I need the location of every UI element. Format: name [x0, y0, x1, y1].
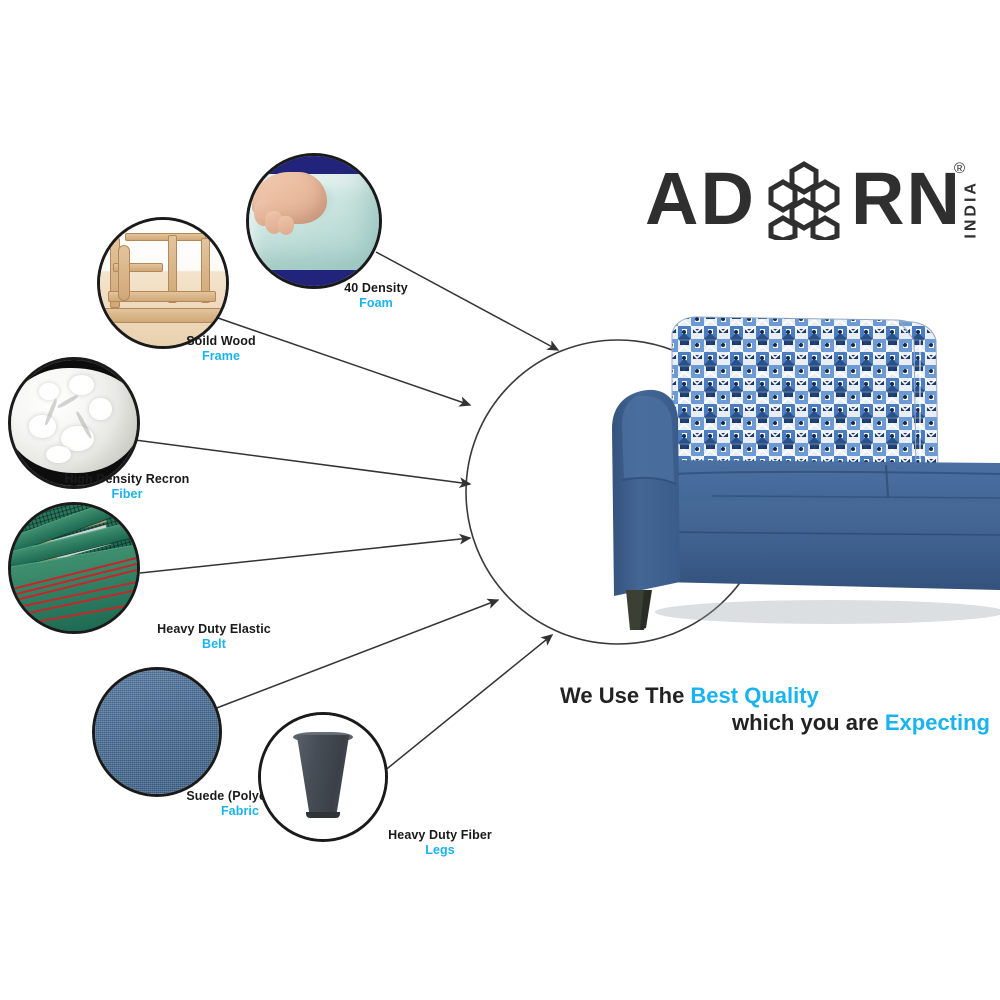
wire-fiber-legs: [383, 635, 552, 772]
infographic-canvas: Soild Wood Frame 40 Density Foam: [0, 0, 1000, 1000]
logo-country-label: INDIA: [963, 180, 981, 239]
elastic-belt-image: [8, 502, 140, 634]
wire-suede-fabric: [214, 600, 498, 709]
suede-fabric-swatch: [95, 670, 219, 794]
caption-subtitle: Legs: [352, 843, 528, 858]
honeycomb-icon: [761, 160, 847, 240]
tagline-line1-plain: We Use The: [560, 683, 690, 708]
fiber-legs-caption: Heavy Duty Fiber Legs: [352, 828, 528, 858]
caption-title: Heavy Duty Elastic: [120, 622, 308, 637]
density-foam-image: [246, 153, 382, 289]
suede-fabric-image: [92, 667, 222, 797]
solid-wood-frame-image: [97, 217, 229, 349]
caption-title: Soild Wood: [128, 334, 314, 349]
tagline-line2-highlight: Expecting: [885, 710, 990, 735]
sofa-arm: [612, 390, 680, 596]
elastic-belt-caption: Heavy Duty Elastic Belt: [120, 622, 308, 652]
caption-subtitle: Foam: [318, 296, 434, 311]
sofa-leg-photo: [261, 715, 385, 839]
sofa-back-cushions: [672, 317, 938, 472]
wood-frame-photo: [100, 220, 226, 346]
caption-subtitle: Fiber: [36, 487, 218, 502]
logo-wordmark-suffix: RN: [851, 162, 962, 236]
recron-fiber-image: [8, 357, 140, 489]
wire-elastic-belt: [140, 538, 470, 573]
sofa-legs: [626, 590, 652, 630]
recron-fiber-caption: High Density Recron Fiber: [36, 472, 218, 502]
recron-fiber-photo: [11, 360, 137, 486]
sofa-shadow: [655, 600, 1000, 624]
caption-title: 40 Density: [318, 281, 434, 296]
density-foam-caption: 40 Density Foam: [318, 281, 434, 311]
registered-trademark-icon: ®: [954, 160, 965, 177]
fiber-legs-image: [258, 712, 388, 842]
tagline-line1-highlight: Best Quality: [690, 683, 818, 708]
blue-fabric-sofa: [600, 300, 1000, 650]
caption-title: High Density Recron: [36, 472, 218, 487]
solid-wood-frame-caption: Soild Wood Frame: [128, 334, 314, 364]
tagline-line-2: which you are Expecting: [560, 709, 990, 736]
caption-title: Heavy Duty Fiber: [352, 828, 528, 843]
sofa-base: [658, 500, 1000, 590]
caption-subtitle: Belt: [120, 637, 308, 652]
tagline-line2-plain: which you are: [732, 710, 885, 735]
foam-hand-photo: [249, 156, 379, 286]
tagline-block: We Use The Best Quality which you are Ex…: [560, 682, 990, 736]
brand-logo: AD RN INDIA ®: [645, 156, 965, 242]
elastic-webbing-photo: [11, 505, 137, 631]
tagline-line-1: We Use The Best Quality: [560, 682, 990, 709]
logo-wordmark-prefix: AD: [645, 162, 756, 236]
caption-subtitle: Frame: [128, 349, 314, 364]
